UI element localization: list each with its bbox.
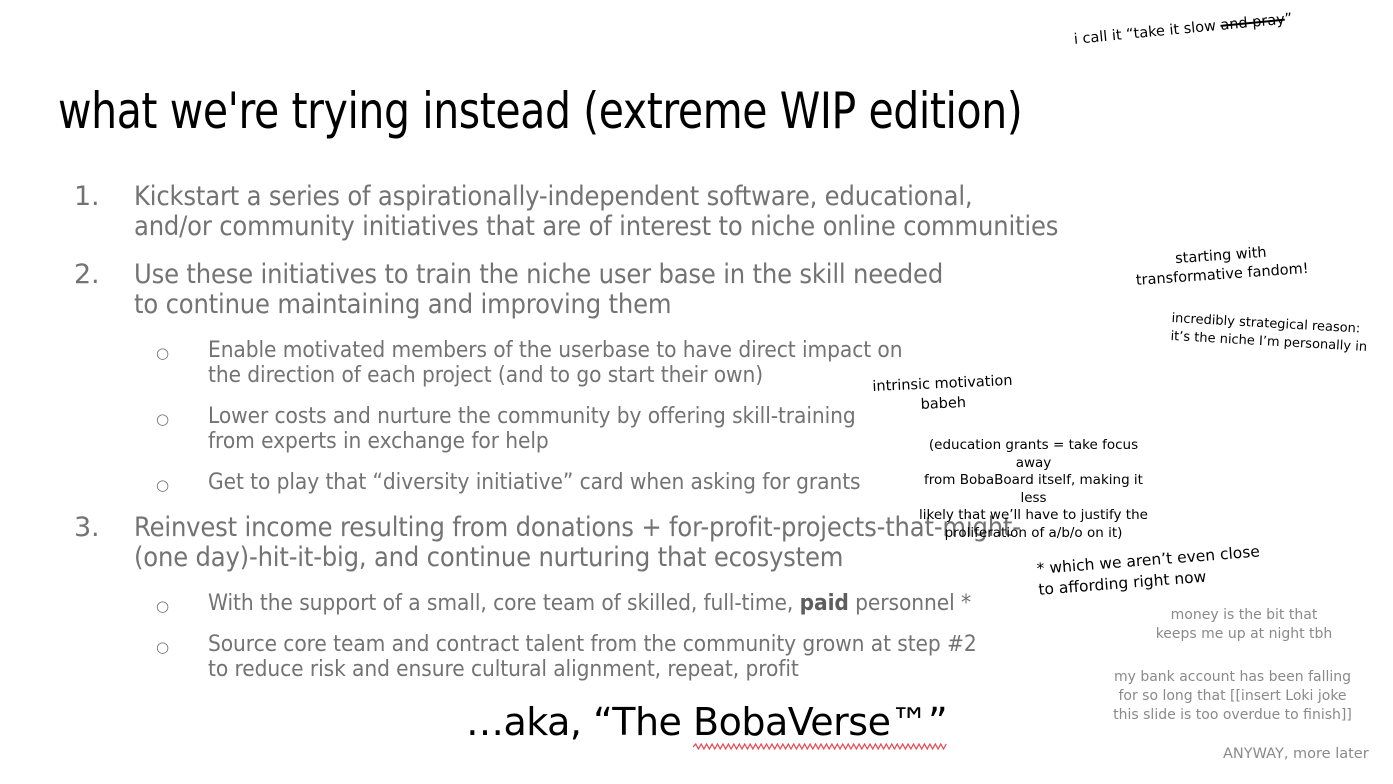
list-item-1-text: Kickstart a series of aspirationally-ind… (134, 182, 1092, 242)
aka-underlined-wrap: BobaVerse™” (693, 700, 947, 744)
spellcheck-squiggle-icon (693, 743, 947, 750)
list-item-3-sub-2-text: Source core team and contract talent fro… (208, 632, 1119, 682)
annotation-bank-account: my bank account has been falling for so … (1100, 668, 1365, 725)
list-item-3-sub-1: ○ With the support of a small, core team… (68, 591, 1198, 616)
list-item-3-sub-1-bold: paid (800, 591, 849, 616)
bullet-circle-icon: ○ (156, 635, 169, 660)
annotation-strategical-reason: incredibly strategical reason: it’s the … (1170, 310, 1368, 357)
presentation-slide: what we're trying instead (extreme WIP e… (0, 0, 1393, 784)
bullet-circle-icon: ○ (156, 473, 169, 498)
aka-prefix: …aka, “The (466, 700, 693, 744)
aka-underlined: BobaVerse™” (693, 700, 947, 744)
list-item-3-sub-1-text-before: With the support of a small, core team o… (208, 591, 800, 616)
annotation-anyway-more-later: ANYWAY, more later (1223, 745, 1369, 764)
annotation-money-keeps-me-up: money is the bit that keeps me up at nig… (1149, 606, 1339, 644)
list-item-3-sub-1-text: With the support of a small, core team o… (208, 591, 1119, 616)
list-item-3-sub-2: ○ Source core team and contract talent f… (68, 632, 1198, 682)
list-marker-1: 1. (74, 182, 114, 212)
bullet-circle-icon: ○ (156, 594, 169, 619)
list-item-2: 2. Use these initiatives to train the ni… (68, 260, 1198, 320)
bullet-circle-icon: ○ (156, 341, 169, 366)
bullet-circle-icon: ○ (156, 407, 169, 432)
annotation-call-it-take-it-slow: i call it “take it slow and pray” (1073, 9, 1293, 50)
list-item-3-sub-1-text-after: personnel * (849, 591, 971, 616)
list-item-2-text: Use these initiatives to train the niche… (134, 260, 1092, 320)
list-marker-2: 2. (74, 260, 114, 290)
annotation-call-it-suffix: ” (1284, 11, 1293, 28)
annotation-call-it-prefix: i call it “take it slow (1073, 18, 1221, 48)
list-marker-3: 3. (74, 513, 114, 543)
list-item-2-sub-1: ○ Enable motivated members of the userba… (68, 338, 1198, 388)
slide-title: what we're trying instead (extreme WIP e… (58, 82, 1022, 140)
annotation-intrinsic-motivation: intrinsic motivation babeh (872, 371, 1014, 417)
annotation-education-grants: (education grants = take focus away from… (911, 437, 1156, 542)
list-item-1: 1. Kickstart a series of aspirationally-… (68, 182, 1198, 242)
annotation-call-it-struck: and pray (1220, 12, 1286, 34)
aka-tagline: …aka, “The BobaVerse™” (466, 700, 947, 744)
